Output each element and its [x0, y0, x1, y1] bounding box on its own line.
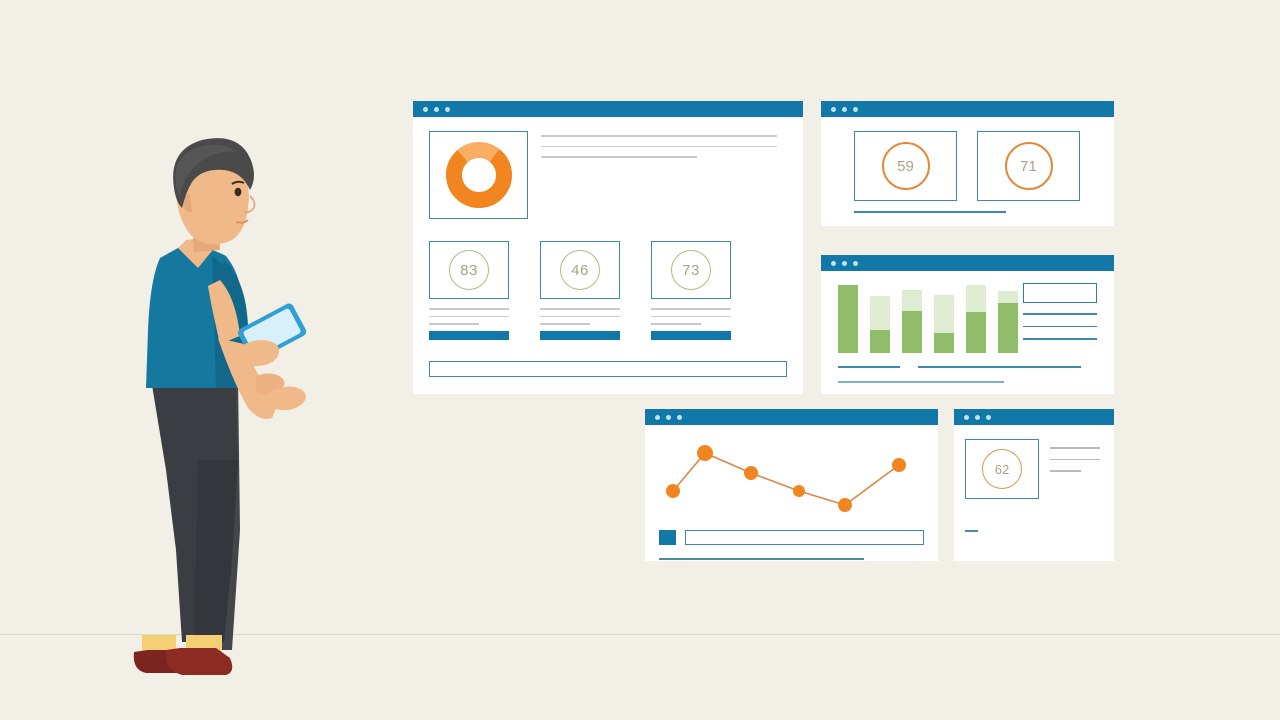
placeholder-line [429, 316, 509, 318]
legend-lines [1023, 313, 1097, 351]
window-dot-maximize-icon[interactable] [445, 107, 450, 112]
bar-fill [902, 311, 922, 353]
window-dot-maximize-icon[interactable] [853, 261, 858, 266]
bar-fill [966, 312, 986, 353]
placeholder-line [651, 308, 731, 310]
title-bar[interactable] [413, 101, 803, 117]
window-dot-maximize-icon[interactable] [677, 415, 682, 420]
placeholder-line [651, 316, 731, 318]
window-dot-close-icon[interactable] [964, 415, 969, 420]
placeholder-line [651, 323, 701, 325]
window-dot-close-icon[interactable] [655, 415, 660, 420]
placeholder-line [1050, 447, 1100, 449]
man-using-smartphone-illustration [120, 130, 320, 690]
placeholder-line [429, 323, 479, 325]
line-series [673, 453, 899, 505]
window-single-kpi[interactable]: 62 [954, 409, 1114, 561]
placeholder-line [541, 135, 777, 137]
bar-fill [998, 303, 1018, 353]
header-placeholder-lines [541, 135, 777, 167]
metric-value-circle: 73 [671, 250, 711, 290]
footer-line [965, 530, 978, 532]
footer-line [854, 211, 1006, 213]
donut-chart-card [429, 131, 528, 219]
kpi-value-circle: 62 [982, 449, 1022, 489]
placeholder-line [1023, 338, 1097, 340]
window-dot-minimize-icon[interactable] [434, 107, 439, 112]
window-dot-minimize-icon[interactable] [975, 415, 980, 420]
window-dot-maximize-icon[interactable] [986, 415, 991, 420]
metric-box: 46 [540, 241, 620, 299]
placeholder-line [1023, 313, 1097, 315]
data-point [892, 458, 906, 472]
data-point [744, 466, 758, 480]
placeholder-line [1023, 326, 1097, 328]
metric-action-button[interactable] [540, 331, 620, 340]
placeholder-line [429, 308, 509, 310]
window-body: 83 46 [413, 117, 803, 394]
window-dot-minimize-icon[interactable] [842, 261, 847, 266]
kpi-value-circle: 71 [1005, 142, 1053, 190]
window-body: 62 [954, 425, 1114, 561]
window-dot-maximize-icon[interactable] [853, 107, 858, 112]
placeholder-line [1050, 470, 1081, 472]
bar-column [966, 285, 986, 353]
metric-card[interactable]: 83 [429, 241, 509, 340]
metric-action-button[interactable] [429, 331, 509, 340]
placeholder-line [541, 156, 697, 158]
bar-fill [870, 330, 890, 353]
placeholder-line [540, 308, 620, 310]
wide-input-field[interactable] [429, 361, 787, 377]
trend-line-chart [659, 435, 924, 515]
window-dot-minimize-icon[interactable] [842, 107, 847, 112]
stacked-bar-chart [838, 285, 1018, 353]
placeholder-line [540, 316, 620, 318]
window-main-dashboard[interactable]: 83 46 [413, 101, 803, 394]
placeholder-line [540, 323, 590, 325]
illustration-stage: 83 46 [0, 0, 1280, 720]
legend-input-field[interactable] [1023, 283, 1097, 303]
window-dot-close-icon[interactable] [423, 107, 428, 112]
placeholder-line [1050, 459, 1100, 461]
metric-box: 83 [429, 241, 509, 299]
kpi-row: 59 71 [854, 131, 1080, 201]
bar-fill [838, 285, 858, 353]
title-bar[interactable] [645, 409, 938, 425]
window-body [821, 271, 1114, 394]
window-dot-close-icon[interactable] [831, 107, 836, 112]
placeholder-line [541, 146, 777, 148]
kpi-card[interactable]: 59 [854, 131, 957, 201]
metric-text-lines [540, 308, 620, 325]
metric-box: 73 [651, 241, 731, 299]
bar-fill [934, 333, 954, 353]
metric-cards-row: 83 46 [429, 241, 787, 340]
window-dot-close-icon[interactable] [831, 261, 836, 266]
data-point [838, 498, 852, 512]
legend-row [659, 530, 924, 545]
kpi-card[interactable]: 71 [977, 131, 1080, 201]
bar-column [934, 295, 954, 353]
footer-line [838, 381, 1004, 383]
metric-card[interactable]: 46 [540, 241, 620, 340]
data-point [666, 484, 680, 498]
kpi-value-circle: 59 [882, 142, 930, 190]
legend-input-field[interactable] [685, 530, 924, 545]
legend-color-swatch [659, 530, 676, 545]
title-bar[interactable] [954, 409, 1114, 425]
window-line-chart[interactable] [645, 409, 938, 561]
bar-column [902, 290, 922, 353]
metric-card[interactable]: 73 [651, 241, 731, 340]
footer-line [659, 558, 864, 560]
donut-chart [444, 140, 514, 210]
window-kpi-pair[interactable]: 59 71 [821, 101, 1114, 226]
bar-column [998, 291, 1018, 353]
window-bar-chart[interactable] [821, 255, 1114, 394]
footer-line [918, 366, 1081, 368]
title-bar[interactable] [821, 101, 1114, 117]
data-point [793, 485, 805, 497]
kpi-text-lines [1050, 447, 1100, 482]
window-dot-minimize-icon[interactable] [666, 415, 671, 420]
data-point [697, 445, 713, 461]
kpi-card[interactable]: 62 [965, 439, 1039, 499]
window-body: 59 71 [821, 117, 1114, 226]
title-bar[interactable] [821, 255, 1114, 271]
bar-column [838, 285, 858, 353]
window-body [645, 425, 938, 561]
metric-value-circle: 83 [449, 250, 489, 290]
footer-line [838, 366, 900, 368]
metric-text-lines [651, 308, 731, 325]
metric-action-button[interactable] [651, 331, 731, 340]
metric-text-lines [429, 308, 509, 325]
metric-value-circle: 46 [560, 250, 600, 290]
bar-column [870, 296, 890, 353]
